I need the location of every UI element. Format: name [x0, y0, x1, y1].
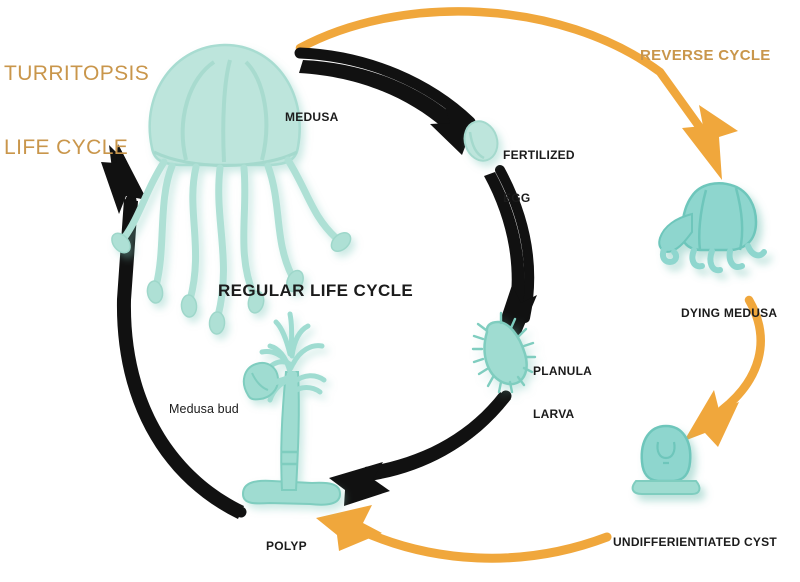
polyp-illustration — [243, 314, 340, 505]
medusa-bud-label: Medusa bud — [169, 372, 239, 446]
dying-medusa-label-line1: DYING MEDUSA — [681, 306, 777, 320]
planula-larva-illustration — [473, 313, 535, 392]
regular-life-cycle-label: REGULAR LIFE CYCLE — [218, 281, 413, 301]
diagram-title-line2: LIFE CYCLE — [4, 136, 149, 161]
fertilized-egg-label: FERTILIZED EGG — [503, 120, 575, 233]
dying-medusa-label: DYING MEDUSA — [681, 278, 777, 349]
undifferientiated-cyst-illustration — [633, 426, 700, 494]
dying-medusa-illustration — [659, 183, 764, 270]
planula-larva-label-line2: LARVA — [533, 407, 592, 421]
fertilized-egg-illustration — [460, 117, 503, 165]
diagram-title-line1: TURRITOPSIS — [4, 62, 149, 87]
planula-larva-label: PLANULA LARVA — [533, 336, 592, 449]
polyp-label-line1: POLYP — [266, 539, 307, 553]
diagram-title: TURRITOPSIS LIFE CYCLE — [4, 12, 149, 210]
reverse-cycle-label: REVERSE CYCLE — [640, 47, 771, 65]
undifferientiated-cyst-label-line1: UNDIFFERIENTIATED CYST — [613, 535, 777, 549]
medusa-label-line1: MEDUSA — [285, 110, 339, 124]
fertilized-egg-label-line1: FERTILIZED — [503, 148, 575, 162]
life-cycle-diagram: TURRITOPSIS LIFE CYCLE REVERSE CYCLE REG… — [0, 0, 800, 577]
polyp-label: POLYP — [266, 511, 307, 582]
planula-larva-label-line1: PLANULA — [533, 364, 592, 378]
fertilized-egg-label-line2: EGG — [503, 191, 575, 205]
medusa-label: MEDUSA — [285, 82, 339, 153]
undifferientiated-cyst-label: UNDIFFERIENTIATED CYST — [613, 507, 777, 578]
medusa-bud-label-line1: Medusa bud — [169, 402, 239, 417]
